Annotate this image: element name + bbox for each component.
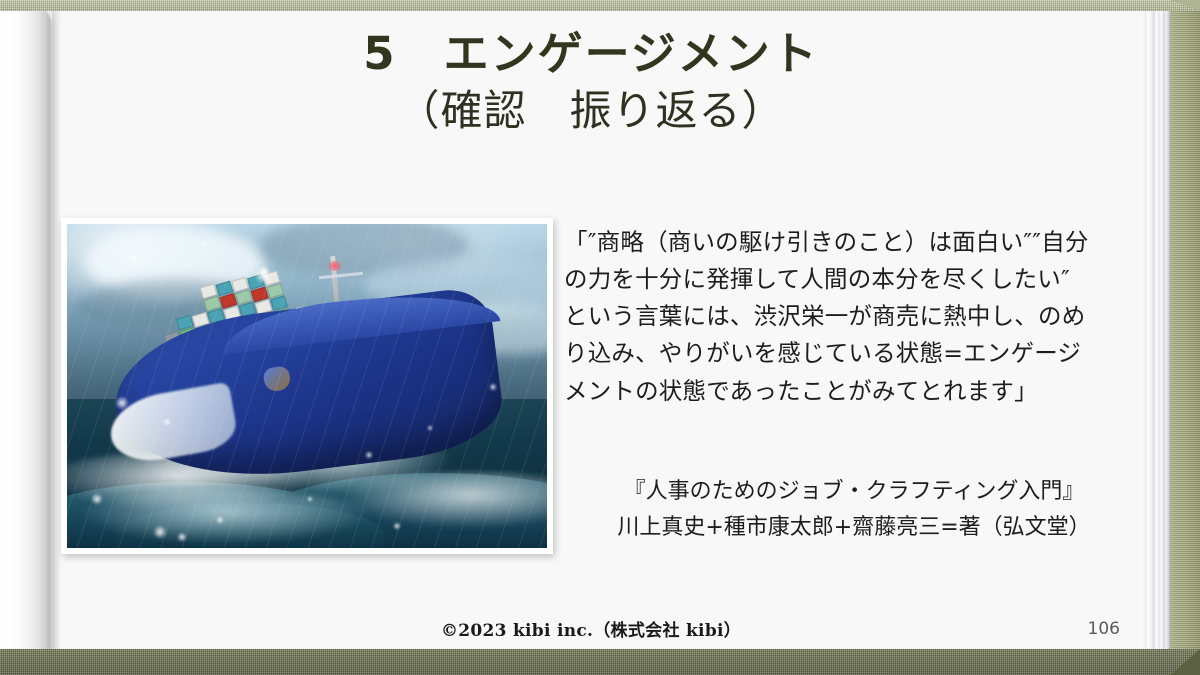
slide-content: 5 エンゲージメント （確認 振り返る） xyxy=(56,11,1144,649)
citation-authors: 川上真史+種市康太郎+齋藤亮三=著（弘文堂） xyxy=(564,510,1144,546)
page-curl xyxy=(0,0,52,675)
quote-line: という言葉には、渋沢栄一が商売に熱中し、のめ xyxy=(564,298,1144,335)
book-corner-bottom-right xyxy=(1170,649,1200,675)
book-border-bottom xyxy=(0,649,1200,675)
quote-line: 「″商略（商いの駆け引きのこと）は面白い″″自分 xyxy=(564,224,1144,261)
rain-overlay xyxy=(67,224,547,548)
quote-block: 「″商略（商いの駆け引きのこと）は面白い″″自分 の力を十分に発揮して人間の本分… xyxy=(564,224,1144,410)
book-border-top xyxy=(0,0,1200,11)
citation-book-title: 『人事のためのジョブ・クラフティング入門』 xyxy=(564,474,1144,510)
quote-line: メントの状態であったことがみてとれます」 xyxy=(564,373,1144,410)
title-block: 5 エンゲージメント （確認 振り返る） xyxy=(56,29,1126,138)
photo-frame xyxy=(61,218,553,554)
page-title: 5 エンゲージメント xyxy=(56,29,1126,79)
book-border-right xyxy=(1170,0,1200,675)
page-number: 106 xyxy=(1088,619,1120,639)
quote-line: の力を十分に発揮して人間の本分を尽くしたい″ xyxy=(564,261,1144,298)
container-ship-photo xyxy=(67,224,547,548)
page-curl-shadow xyxy=(52,0,62,675)
slide-canvas: 5 エンゲージメント （確認 振り返る） xyxy=(0,0,1200,675)
quote-line: り込み、やりがいを感じている状態=エンゲージ xyxy=(564,335,1144,372)
copyright-footer: ©2023 kibi inc.（株式会社 kibi） xyxy=(56,616,1126,641)
page-stack-edges xyxy=(1147,5,1170,667)
page-subtitle: （確認 振り返る） xyxy=(56,85,1126,138)
book-corner-top-right xyxy=(1170,0,1200,11)
citation-block: 『人事のためのジョブ・クラフティング入門』 川上真史+種市康太郎+齋藤亮三=著（… xyxy=(564,474,1144,545)
